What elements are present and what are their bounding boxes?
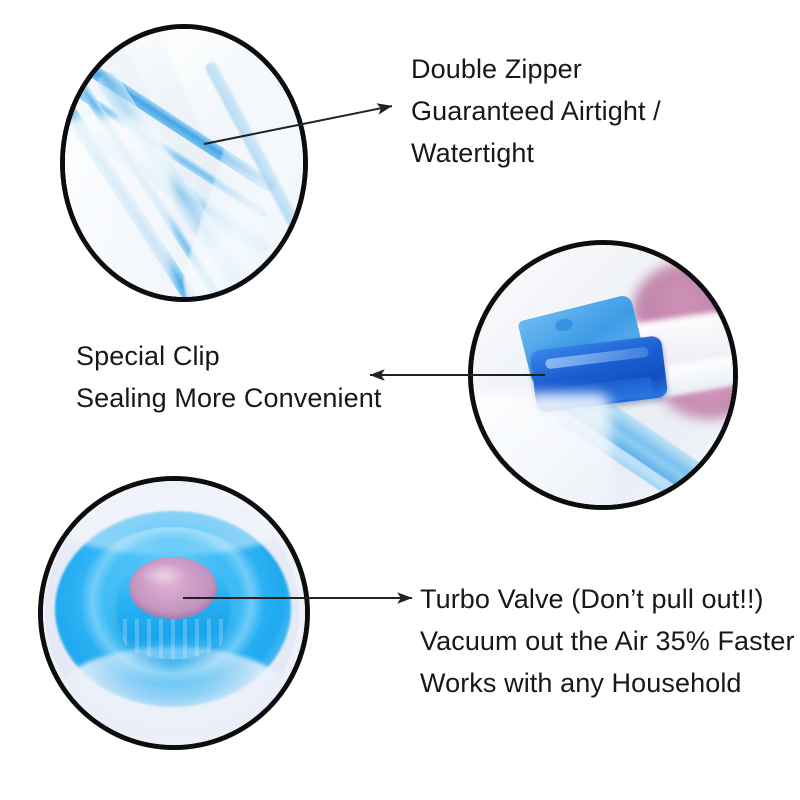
valve-line-3: Works with any Household [420, 662, 795, 704]
zipper-photo [63, 27, 305, 299]
zipper-photo-circle [60, 24, 308, 302]
zipper-line-3: Watertight [411, 132, 661, 174]
valve-line-2: Vacuum out the Air 35% Faster [420, 620, 795, 662]
zipper-line-1: Double Zipper [411, 48, 661, 90]
clip-line-1: Special Clip [76, 335, 381, 377]
clip-callout-text: Special Clip Sealing More Convenient [76, 335, 381, 419]
clip-line-2: Sealing More Convenient [76, 377, 381, 419]
zipper-line-2: Guaranteed Airtight / [411, 90, 661, 132]
infographic-canvas: Double Zipper Guaranteed Airtight / Wate… [0, 0, 800, 800]
clip-photo [471, 243, 735, 507]
zipper-callout-text: Double Zipper Guaranteed Airtight / Wate… [411, 48, 661, 174]
valve-line-1: Turbo Valve (Don’t pull out!!) [420, 578, 795, 620]
valve-photo [41, 479, 307, 747]
valve-callout-text: Turbo Valve (Don’t pull out!!) Vacuum ou… [420, 578, 795, 704]
clip-photo-circle [468, 240, 738, 510]
valve-photo-circle [38, 476, 310, 750]
